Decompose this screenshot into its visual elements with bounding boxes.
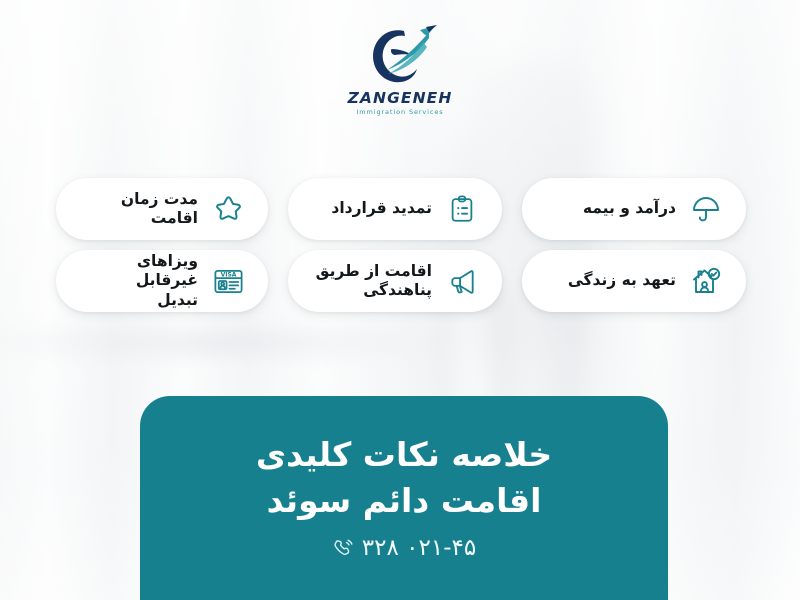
feature-card-income-insurance[interactable]: درآمد و بیمه	[522, 178, 746, 240]
page-title: خلاصه نکات کلیدی اقامت دائم سوئد	[256, 432, 552, 523]
umbrella-icon	[688, 191, 724, 227]
feature-card-grid: درآمد و بیمه تمدید قرارداد	[56, 178, 746, 312]
house-check-person-icon	[688, 263, 724, 299]
feature-card-asylum-residence[interactable]: اقامت از طریق پناهندگی	[288, 250, 502, 312]
brand-tagline: Immigration Services	[356, 109, 443, 116]
svg-text:VISA: VISA	[220, 271, 236, 278]
feature-card-label: ویزاهای غیرقابل تبدیل	[78, 252, 198, 310]
brand-wordmark: ZANGENEH	[348, 91, 453, 107]
phone-number: ۰۲۱-۴۵ ۳۲۸	[362, 537, 476, 560]
feature-card-label: تعهد به زندگی	[544, 271, 676, 290]
background-rail	[0, 330, 480, 356]
feature-card-label: تمدید قرارداد	[310, 199, 432, 218]
globe-swoosh-airplane-logo-icon	[357, 24, 443, 90]
contact-phone[interactable]: ۰۲۱-۴۵ ۳۲۸	[332, 537, 476, 560]
feature-card-residence-duration[interactable]: مدت زمان اقامت	[56, 178, 268, 240]
phone-ring-icon	[332, 538, 353, 559]
feature-card-label: اقامت از طریق پناهندگی	[310, 262, 432, 301]
brand-logo: ZANGENEH Immigration Services	[0, 24, 800, 115]
feature-card-row: درآمد و بیمه تمدید قرارداد	[56, 178, 746, 240]
star-icon	[210, 191, 246, 227]
feature-card-label: درآمد و بیمه	[544, 199, 676, 218]
megaphone-icon	[444, 263, 480, 299]
feature-card-label: مدت زمان اقامت	[78, 190, 198, 229]
visa-card-icon: VISA	[210, 263, 246, 299]
summary-panel: خلاصه نکات کلیدی اقامت دائم سوئد ۰۲۱-۴۵ …	[140, 396, 668, 600]
poster-canvas: ZANGENEH Immigration Services درآمد و بی…	[0, 0, 800, 600]
feature-card-contract-renewal[interactable]: تمدید قرارداد	[288, 178, 502, 240]
feature-card-row: تعهد به زندگی اقامت از طریق پناهندگی	[56, 250, 746, 312]
feature-card-life-commitment[interactable]: تعهد به زندگی	[522, 250, 746, 312]
feature-card-nonconvertible-visas[interactable]: VISA ویزاهای غیرقابل تبدیل	[56, 250, 268, 312]
clipboard-icon	[444, 191, 480, 227]
